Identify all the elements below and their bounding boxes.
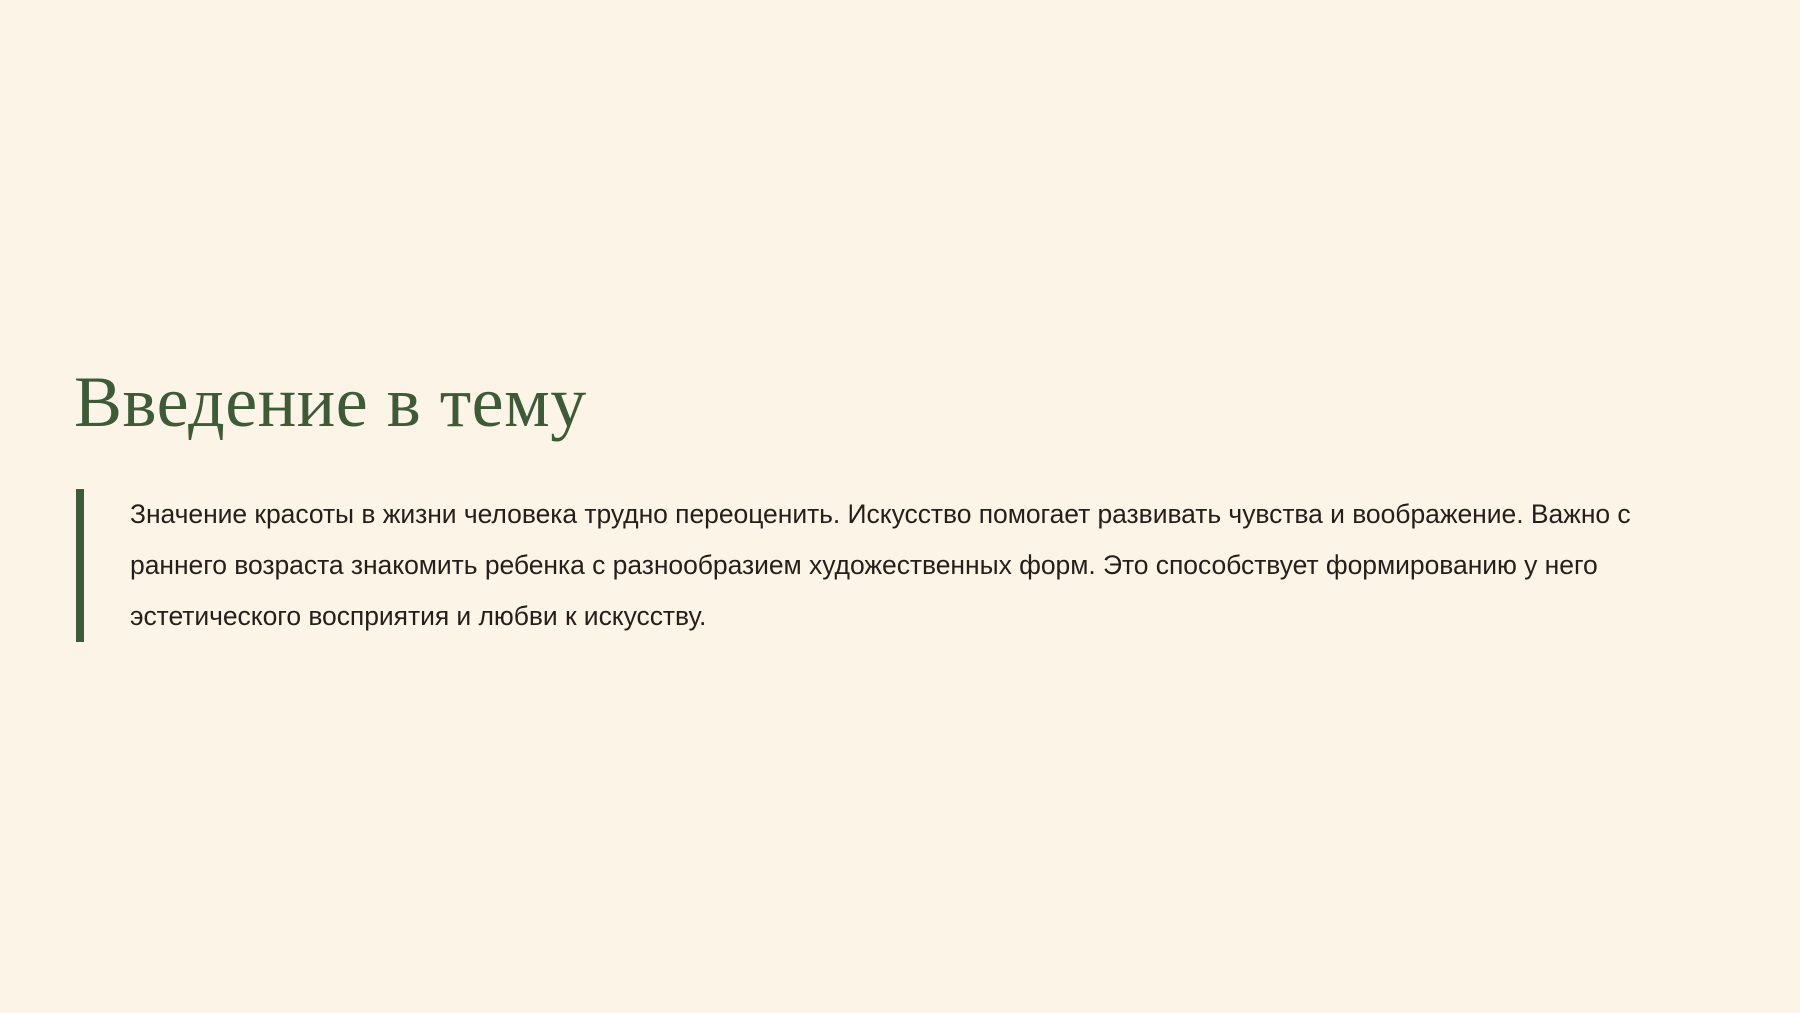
slide-canvas: Введение в тему Значение красоты в жизни… [0, 0, 1800, 1013]
body-quote-block: Значение красоты в жизни человека трудно… [76, 489, 1676, 642]
vertical-accent-rule-icon [76, 489, 84, 642]
page-title: Введение в тему [74, 366, 587, 438]
body-paragraph: Значение красоты в жизни человека трудно… [84, 489, 1660, 642]
